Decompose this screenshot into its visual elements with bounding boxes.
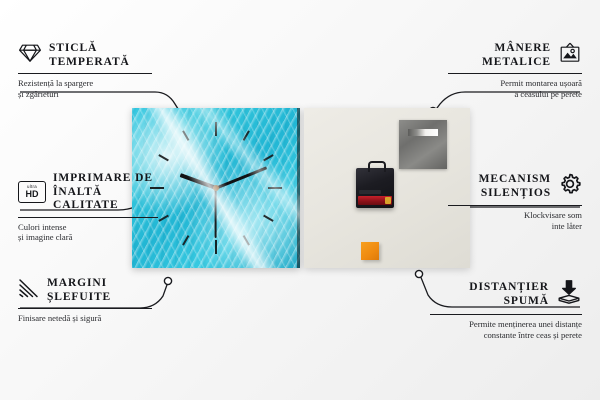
metal-hanger-bracket <box>399 120 447 169</box>
hanger-slot <box>408 129 438 136</box>
clock-mechanism <box>356 168 394 208</box>
callout-title: MARGINI ȘLEFUITE <box>47 277 111 304</box>
callout-desc: Klockvisare som inte låter <box>448 210 582 231</box>
callout-title: DISTANȚIER SPUMĂ <box>469 281 549 308</box>
product-image <box>132 108 470 268</box>
callout-desc: Permit montarea ușoară a ceasului pe per… <box>448 78 582 99</box>
callout-rule <box>18 73 152 74</box>
callout-silent-mechanism: MECANISM SILENȚIOS Klockvisare som inte … <box>448 172 582 231</box>
picture-hanger-icon <box>558 42 582 69</box>
mechanism-detail <box>359 190 381 194</box>
diamond-icon <box>18 43 42 68</box>
callout-title: STICLĂ TEMPERATĂ <box>49 42 130 69</box>
callout-hd-print: ultra HD IMPRIMARE DE ÎNALTĂ CALITATE Cu… <box>18 172 158 243</box>
callout-rule <box>430 314 582 315</box>
callout-desc: Rezistență la spargere și zgârieturi <box>18 78 152 99</box>
battery <box>358 196 392 205</box>
ultra-hd-icon: ultra HD <box>18 181 46 203</box>
clock-hand-minute <box>215 166 266 189</box>
leader-dot-6 <box>415 270 422 277</box>
callout-metal-hangers: MÂNERE METALICE Permit montarea ușoară a… <box>448 42 582 99</box>
callout-rule <box>448 73 582 74</box>
callout-rule <box>18 308 152 309</box>
polished-edges-icon <box>18 278 40 303</box>
callout-desc: Culori intense și imagine clară <box>18 222 158 243</box>
clock-hand-second <box>215 188 217 238</box>
product-infographic: STICLĂ TEMPERATĂ Rezistență la spargere … <box>0 0 600 400</box>
clock-pivot <box>213 185 219 191</box>
callout-tempered-glass: STICLĂ TEMPERATĂ Rezistență la spargere … <box>18 42 152 99</box>
callout-title: MÂNERE METALICE <box>482 42 551 69</box>
clock-back-panel <box>304 108 470 268</box>
callout-desc: Finisare netedă și sigură <box>18 313 152 324</box>
ultra-hd-icon-main: HD <box>26 190 39 199</box>
callout-rule <box>448 205 582 206</box>
gear-icon <box>558 172 582 201</box>
clock-hand-hour <box>180 173 217 190</box>
callout-polished-edges: MARGINI ȘLEFUITE Finisare netedă și sigu… <box>18 277 152 324</box>
callout-title: MECANISM SILENȚIOS <box>479 173 551 200</box>
foam-spacer <box>361 242 379 260</box>
callout-foam-spacer: DISTANȚIER SPUMĂ Permite menținerea unei… <box>430 279 582 340</box>
leader-dot-3 <box>164 277 171 284</box>
foam-spacer-icon <box>556 279 582 310</box>
mechanism-hook <box>368 161 386 172</box>
callout-desc: Permite menținerea unei distanțe constan… <box>430 319 582 340</box>
callout-title: IMPRIMARE DE ÎNALTĂ CALITATE <box>53 172 158 213</box>
callout-rule <box>18 217 158 218</box>
